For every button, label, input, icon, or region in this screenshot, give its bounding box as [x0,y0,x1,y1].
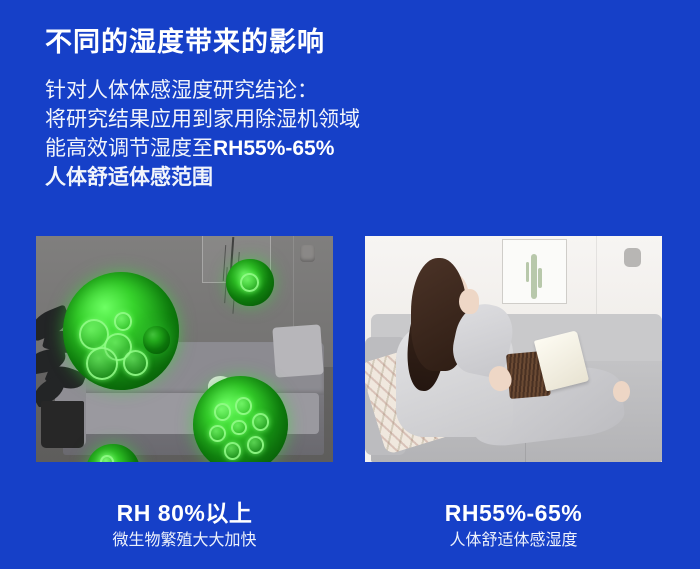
microbe-nub [100,455,114,462]
caption-high-humidity: RH 80%以上 微生物繁殖大大加快 [36,498,333,554]
body-line-3: 能高效调节湿度至RH55%-65% [45,134,360,163]
caption-comfort-humidity: RH55%-65% 人体舒适体感湿度 [365,498,662,554]
microbe-nub [231,420,246,436]
body-line-1: 针对人体体感湿度研究结论： [45,76,360,105]
body-line-3-plain: 能高效调节湿度至 [45,137,213,160]
caption-left-title: RH 80%以上 [36,498,333,528]
caption-left-subtitle: 微生物繁殖大大加快 [36,528,333,554]
photo-high-humidity [36,236,333,462]
microbe-nub [240,273,259,292]
microbe-sphere [226,259,274,306]
caption-right-subtitle: 人体舒适体感湿度 [365,528,662,554]
foot [613,381,630,402]
caption-right-title: RH55%-65% [365,498,662,528]
wall-switch-icon [300,245,315,262]
microbe-nub [252,413,269,430]
body-line-2: 将研究结果应用到家用除湿机领域 [45,105,360,134]
microbe-sphere [143,326,170,353]
hand-at-face [459,289,478,314]
microbe-nub [214,403,231,420]
microbe-nub [235,397,252,414]
dim-living-room-scene [36,236,333,462]
body-line-3-emphasis: RH55%-65% [213,137,334,160]
microbe-nub [114,312,133,331]
microbe-nub [209,425,226,442]
bright-living-room-scene [365,236,662,462]
body-line-4: 人体舒适体感范围 [45,163,360,192]
pillow [272,325,323,378]
plant-pot [41,401,84,449]
humidity-comparison-slide: 不同的湿度带来的影响 针对人体体感湿度研究结论： 将研究结果应用到家用除湿机领域… [0,0,700,569]
page-title: 不同的湿度带来的影响 [45,20,325,59]
photo-comfort-humidity [365,236,662,462]
microbe-nub [247,436,264,453]
microbe-nub [123,350,148,376]
microbe-nub [86,347,118,380]
woman-reading [389,254,633,462]
body-text-block: 针对人体体感湿度研究结论： 将研究结果应用到家用除湿机领域 能高效调节湿度至RH… [45,76,360,192]
microbe-nub [224,442,241,459]
